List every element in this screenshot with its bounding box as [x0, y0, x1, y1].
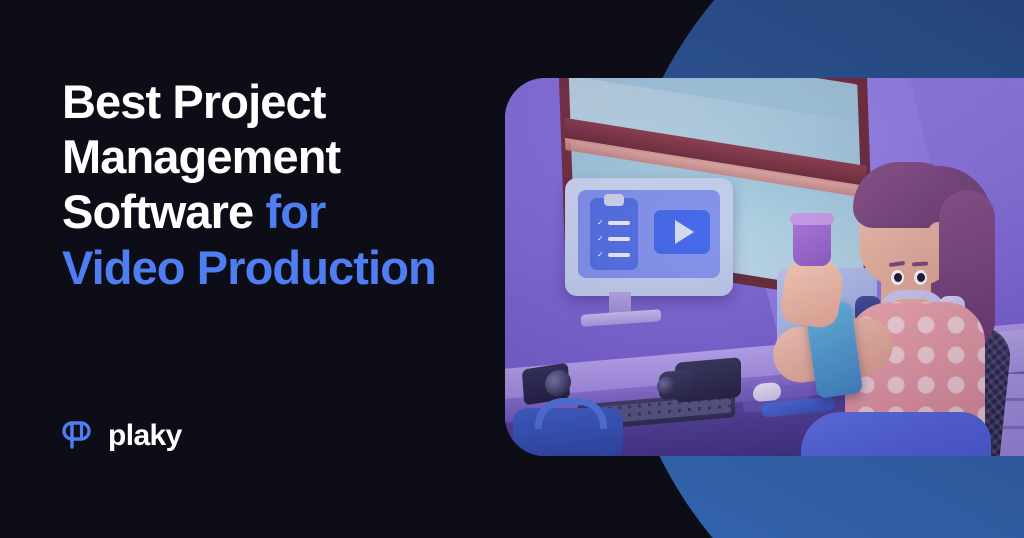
- checklist-bar: [608, 237, 630, 241]
- legs-jeans: [801, 412, 991, 456]
- camera-bag: [513, 408, 623, 456]
- brand-logo: plaky: [62, 418, 182, 452]
- page-title: Best Project Management Software for Vid…: [62, 74, 492, 295]
- eye-right: [914, 270, 927, 285]
- eyebrow-right: [912, 261, 928, 266]
- clipboard-icon: ✓ ✓ ✓: [590, 198, 638, 270]
- hero-illustration: ✓ ✓ ✓: [505, 78, 1024, 456]
- checklist-row: ✓: [597, 252, 630, 257]
- headline-line-4-accent: Video Production: [62, 241, 436, 294]
- text-column: Best Project Management Software for Vid…: [0, 0, 520, 538]
- plaky-logo-mark-icon: [62, 418, 96, 452]
- illustration-scene: ✓ ✓ ✓: [505, 78, 1024, 456]
- headline-line-2: Management: [62, 130, 340, 183]
- checklist-row: ✓: [597, 236, 630, 241]
- coffee-cup: [793, 220, 831, 266]
- banner: Best Project Management Software for Vid…: [0, 0, 1024, 538]
- check-icon: ✓: [597, 251, 604, 258]
- eyebrow-left: [889, 261, 905, 267]
- eye-left: [891, 270, 904, 285]
- check-icon: ✓: [597, 219, 604, 226]
- checklist-row: ✓: [597, 220, 630, 225]
- brand-name: plaky: [108, 421, 182, 451]
- clipboard-clip: [604, 194, 624, 206]
- person-character: [835, 126, 1024, 456]
- play-triangle: [675, 220, 694, 244]
- checklist-bar: [608, 221, 630, 225]
- play-icon: [654, 210, 710, 254]
- headline-line-3-accent: for: [265, 185, 325, 238]
- headline-line-3-white: Software: [62, 185, 265, 238]
- check-icon: ✓: [597, 235, 604, 242]
- headline-line-1: Best Project: [62, 75, 325, 128]
- monitor-screen: ✓ ✓ ✓: [578, 190, 720, 278]
- dslr-camera-front: [675, 357, 741, 403]
- desktop-monitor: ✓ ✓ ✓: [565, 178, 733, 296]
- checklist-bar: [608, 253, 630, 257]
